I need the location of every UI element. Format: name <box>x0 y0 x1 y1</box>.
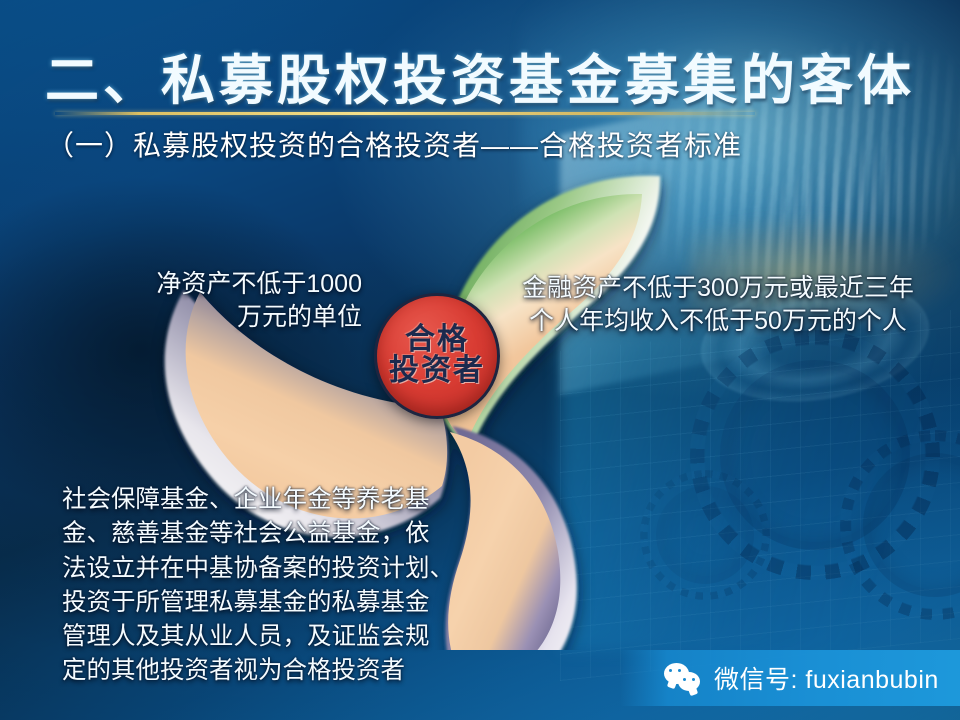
watermark-bar: 微信号: fuxianbubin <box>620 650 960 706</box>
hub-line-2: 投资者 <box>389 356 485 387</box>
bottom-blade-callout: 社会保障基金、企业年金等养老基 金、慈善基金等社会公益基金，依 法设立并在中基协… <box>62 483 462 689</box>
watermark-text: 微信号: fuxianbubin <box>714 660 939 696</box>
left-blade-callout: 净资产不低于1000 万元的单位 <box>62 268 362 333</box>
center-hub-badge: 合格 投资者 <box>374 293 500 419</box>
pinwheel-blade-bottom <box>446 426 577 650</box>
hub-line-1: 合格 <box>405 325 469 356</box>
slide-canvas: 二、私募股权投资基金募集的客体 （一）私募股权投资的合格投资者——合格投资者标准 <box>0 0 960 720</box>
title-divider <box>55 112 755 115</box>
wechat-icon <box>664 663 702 693</box>
right-blade-callout: 金融资产不低于300万元或最近三年 个人年均收入不低于50万元的个人 <box>518 272 918 337</box>
page-title: 二、私募股权投资基金募集的客体 <box>0 36 960 115</box>
